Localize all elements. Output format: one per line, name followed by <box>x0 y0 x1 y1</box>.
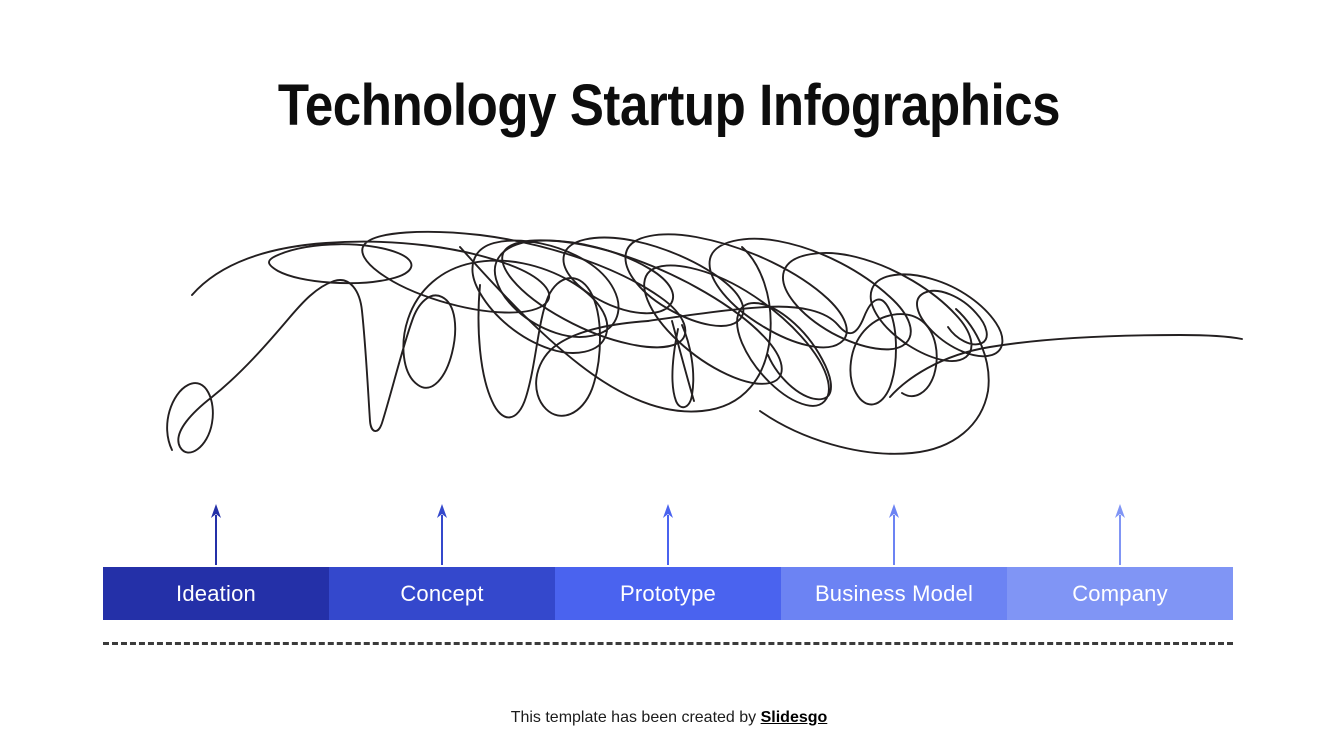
dashed-divider <box>103 642 1233 645</box>
stage-label: Concept <box>400 581 483 607</box>
doodle-stroke-main <box>167 234 1002 452</box>
stage-arrow-prototype <box>555 503 781 567</box>
footer-credit: This template has been created by Slides… <box>0 709 1338 727</box>
arrow-up-icon <box>1114 503 1126 567</box>
stage-progress-bar: Ideation Concept Prototype Business Mode… <box>103 567 1233 620</box>
stage-arrow-business-model <box>781 503 1007 567</box>
stage-label: Prototype <box>620 581 716 607</box>
footer-credit-text: This template has been created by <box>511 709 761 726</box>
stage-segment-company[interactable]: Company <box>1007 567 1233 620</box>
arrow-up-icon <box>436 503 448 567</box>
stage-label: Business Model <box>815 581 973 607</box>
tangled-line-doodle <box>150 225 1220 475</box>
doodle-stroke-tail <box>890 335 1242 397</box>
stage-segment-concept[interactable]: Concept <box>329 567 555 620</box>
tangled-line-doodle-svg <box>150 225 1220 475</box>
slidesgo-link[interactable]: Slidesgo <box>761 709 828 726</box>
doodle-stroke-bowl <box>760 309 989 454</box>
stage-label: Company <box>1072 581 1168 607</box>
stage-segment-ideation[interactable]: Ideation <box>103 567 329 620</box>
arrow-up-icon <box>210 503 222 567</box>
doodle-stroke-oval <box>269 244 411 283</box>
stage-segment-business-model[interactable]: Business Model <box>781 567 1007 620</box>
stage-arrow-company <box>1007 503 1233 567</box>
arrow-up-icon <box>888 503 900 567</box>
stage-label: Ideation <box>176 581 256 607</box>
doodle-stroke-hook <box>672 321 694 407</box>
stage-segment-prototype[interactable]: Prototype <box>555 567 781 620</box>
page-title: Technology Startup Infographics <box>80 72 1257 139</box>
stage-arrow-row <box>103 503 1233 567</box>
stage-arrow-ideation <box>103 503 329 567</box>
arrow-up-icon <box>662 503 674 567</box>
stage-arrow-concept <box>329 503 555 567</box>
doodle-stroke-waves <box>479 278 649 417</box>
